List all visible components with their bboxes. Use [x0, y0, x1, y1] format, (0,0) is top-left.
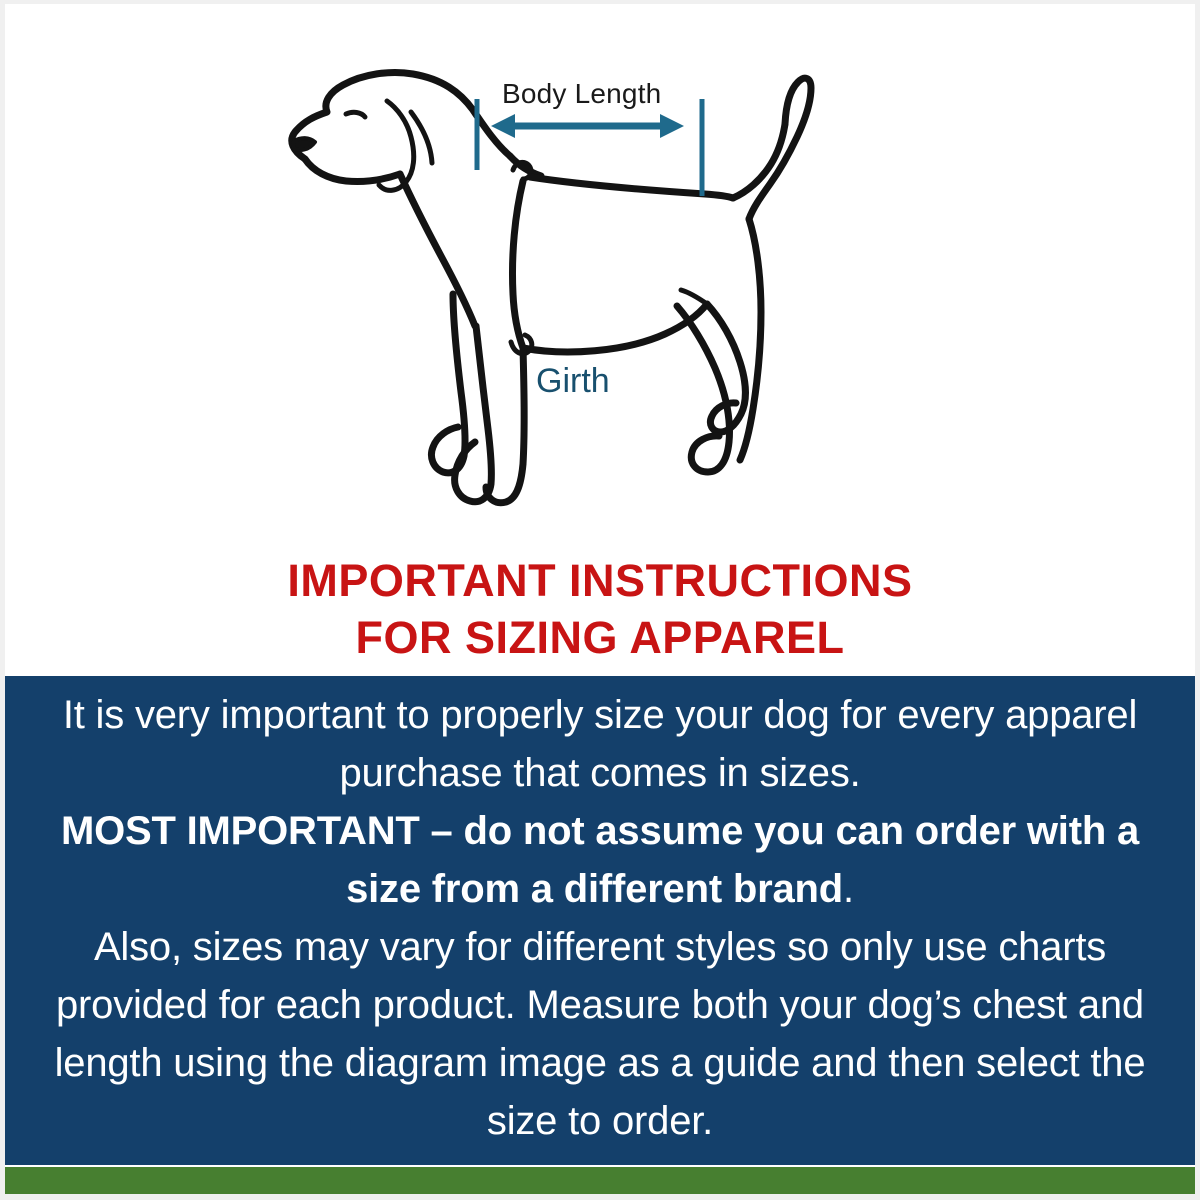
body-length-arrow [491, 114, 684, 138]
arrow-head-right [660, 114, 684, 138]
instruction-paragraph-2-bold: MOST IMPORTANT – do not assume you can o… [61, 809, 1139, 911]
diagram-area: Body Length Girth IMPORTANT INSTRUCTIONS… [5, 4, 1195, 676]
page-title: IMPORTANT INSTRUCTIONS FOR SIZING APPARE… [5, 552, 1195, 666]
instruction-paragraph-2-period: . [843, 867, 854, 911]
instruction-paragraph-3: Also, sizes may vary for different style… [55, 925, 1146, 1143]
frame-edge-right [1195, 0, 1200, 1200]
instructions-panel: It is very important to properly size yo… [5, 676, 1195, 1165]
body-length-label: Body Length [502, 78, 661, 110]
page-title-line-2: FOR SIZING APPAREL [5, 609, 1195, 666]
girth-label: Girth [536, 362, 610, 401]
dog-outline [292, 72, 811, 502]
page-title-line-1: IMPORTANT INSTRUCTIONS [5, 552, 1195, 609]
instructions-text: It is very important to properly size yo… [35, 686, 1165, 1150]
frame-edge-bottom [0, 1194, 1200, 1200]
instruction-paragraph-1: It is very important to properly size yo… [63, 693, 1137, 795]
green-divider-bar [5, 1167, 1195, 1194]
sizing-instructions-graphic: Body Length Girth IMPORTANT INSTRUCTIONS… [0, 0, 1200, 1200]
